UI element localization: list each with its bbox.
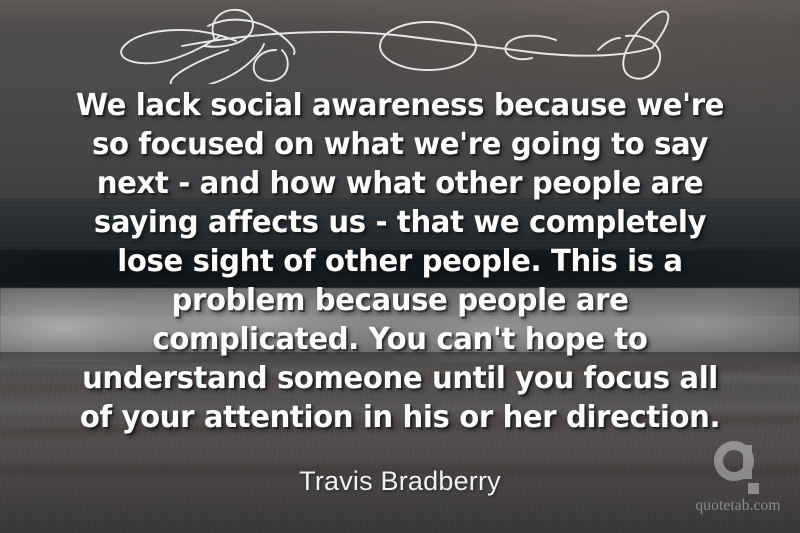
watermark-text: quotetab.com <box>686 497 790 515</box>
quote-line: complicated. You can't hope to <box>45 320 756 359</box>
quote-line: of your attention in his or her directio… <box>45 398 756 437</box>
quotetab-q-logo-icon <box>710 439 766 495</box>
quote-image-card: We lack social awareness because we're s… <box>0 0 800 533</box>
quote-line: so focused on what we're going to say <box>45 125 756 164</box>
quote-line: lose sight of other people. This is a <box>45 242 756 281</box>
quote-line: understand someone until you focus all <box>45 359 756 398</box>
flourish-ornament-icon <box>86 6 714 84</box>
quote-line: We lack social awareness because we're <box>45 86 756 125</box>
author-name: Travis Bradberry <box>0 466 800 497</box>
quote-text: We lack social awareness because we're s… <box>28 86 772 437</box>
quote-line: next - and how what other people are <box>45 164 756 203</box>
quote-line: problem because people are <box>45 281 756 320</box>
quote-line: saying affects us - that we completely <box>45 203 756 242</box>
watermark[interactable]: quotetab.com <box>686 439 790 527</box>
